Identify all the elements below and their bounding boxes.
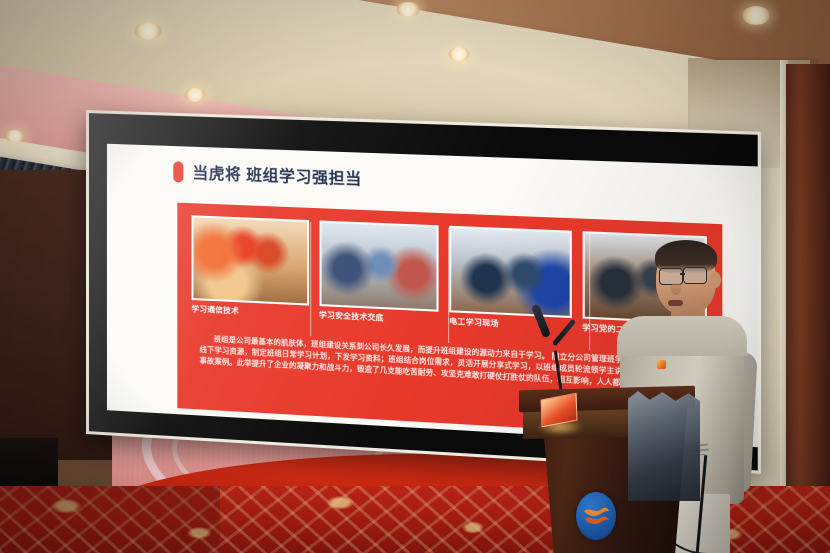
speaker-ear xyxy=(710,272,721,288)
photo-divider xyxy=(589,233,590,350)
photo-divider xyxy=(448,228,449,343)
party-emblem-badge-icon xyxy=(657,360,666,369)
carpet-shadow xyxy=(0,486,220,553)
podium-front-panel xyxy=(628,391,700,501)
screen-letterbox-left xyxy=(89,113,107,432)
photo-cell: 学习安全技术交底 xyxy=(319,220,439,332)
downlight-icon xyxy=(742,6,770,25)
photo-cell: 电工学习现场 xyxy=(449,226,571,339)
glasses-icon xyxy=(659,268,683,285)
downlight-icon xyxy=(184,88,206,102)
speaker-mouth xyxy=(668,300,683,306)
photo-cell: 学习通信技术 xyxy=(191,215,308,326)
speaker-shoulders xyxy=(617,316,747,356)
downlight-icon xyxy=(5,130,25,142)
bullet-pill-icon xyxy=(173,161,183,183)
slide-title-row: 当虎将 班组学习强担当 xyxy=(173,160,362,189)
downlight-icon xyxy=(134,22,162,40)
glasses-icon xyxy=(683,267,707,284)
company-swoosh-icon xyxy=(582,504,611,528)
conference-room-photo: 当虎将 班组学习强担当 学习通信技术 学习安全技术交底 电工学习现场 xyxy=(0,0,830,553)
speaker-nose xyxy=(671,283,681,295)
downlight-icon xyxy=(396,2,420,17)
slide-photo-3 xyxy=(449,226,571,318)
photo-divider xyxy=(310,222,311,336)
photo-caption-3: 电工学习现场 xyxy=(449,316,571,332)
photo-caption-2: 学习安全技术交底 xyxy=(319,310,439,325)
speaker-eyebrow-left xyxy=(661,263,680,266)
right-wall-wood-panel xyxy=(786,64,830,553)
slide-title: 当虎将 班组学习强担当 xyxy=(192,161,361,190)
slide-photo-2 xyxy=(319,220,439,311)
slide-photo-1 xyxy=(191,215,308,305)
glasses-bridge xyxy=(680,273,685,275)
speaker-eyebrow-right xyxy=(685,262,704,265)
downlight-icon xyxy=(448,47,470,61)
photo-caption-1: 学习通信技术 xyxy=(191,304,308,319)
